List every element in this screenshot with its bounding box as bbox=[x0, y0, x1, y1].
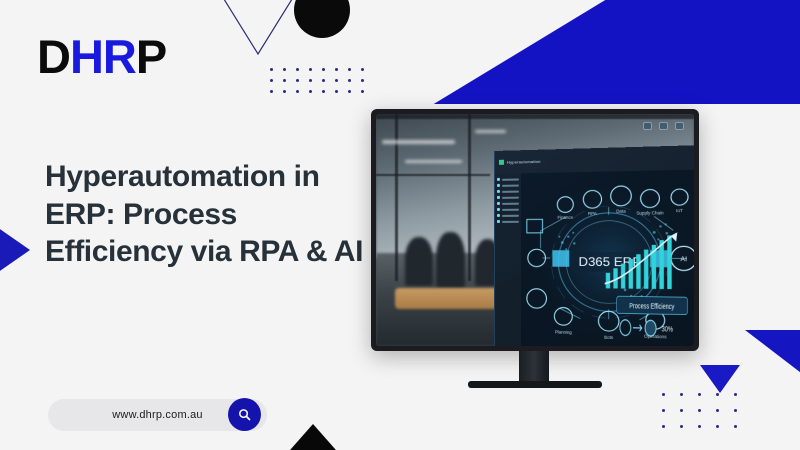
efficiency-chart: Process Efficiency 30% bbox=[601, 232, 694, 344]
logo-letter-d: D bbox=[37, 30, 70, 83]
chevron-outline-icon bbox=[196, 0, 320, 60]
node-label: Finance bbox=[557, 215, 573, 220]
dashboard-app-logo-icon bbox=[499, 160, 504, 165]
sidebar-item[interactable] bbox=[497, 214, 519, 217]
sidebar-item[interactable] bbox=[497, 178, 519, 181]
minimize-icon[interactable] bbox=[643, 122, 652, 130]
dashboard-app-title: Hyperautomation bbox=[507, 159, 541, 165]
blue-wedge-right-shape bbox=[745, 330, 800, 376]
banner-canvas: DHRP Hyperautomation in ERP: Process Eff… bbox=[0, 0, 800, 450]
sidebar-item[interactable] bbox=[497, 190, 519, 193]
sidebar-item[interactable] bbox=[497, 220, 519, 223]
window-controls[interactable] bbox=[643, 122, 684, 130]
dashboard-sidebar[interactable] bbox=[495, 174, 521, 346]
dot-grid-bottom bbox=[662, 393, 752, 441]
sidebar-item[interactable] bbox=[497, 208, 519, 211]
sidebar-item[interactable] bbox=[497, 184, 519, 187]
restore-icon[interactable] bbox=[659, 122, 668, 130]
blue-angled-block-shape bbox=[430, 0, 800, 104]
monitor-device: Hyperautomation bbox=[371, 109, 699, 351]
monitor-screen: Hyperautomation bbox=[376, 114, 694, 346]
monitor-neck bbox=[519, 351, 549, 383]
blue-triangle-left-shape bbox=[0, 218, 30, 282]
process-efficiency-badge: Process Efficiency bbox=[629, 302, 675, 311]
erp-dashboard: Hyperautomation bbox=[494, 145, 694, 346]
sidebar-item[interactable] bbox=[497, 196, 519, 199]
node-label: Supply Chain bbox=[636, 211, 664, 216]
monitor-base bbox=[468, 381, 602, 388]
sidebar-item[interactable] bbox=[497, 202, 519, 205]
node-label: Planning bbox=[554, 330, 572, 336]
node-label: RPA bbox=[588, 211, 597, 216]
logo-letters-hr: HR bbox=[70, 30, 136, 83]
logo-letter-p: P bbox=[136, 30, 166, 83]
dhrp-logo[interactable]: DHRP bbox=[37, 33, 166, 80]
page-title: Hyperautomation in ERP: Process Efficien… bbox=[45, 158, 375, 271]
magnifier-icon bbox=[237, 407, 252, 422]
node-label: IoT bbox=[676, 208, 683, 213]
website-url-text: www.dhrp.com.au bbox=[112, 409, 202, 421]
blue-wedge-mid-shape bbox=[700, 365, 740, 393]
node-label: Data bbox=[616, 209, 626, 214]
close-icon[interactable] bbox=[675, 122, 684, 130]
dot-grid-top bbox=[270, 68, 374, 101]
black-triangle-bottom-shape bbox=[283, 424, 343, 450]
search-icon-button[interactable] bbox=[228, 398, 261, 431]
efficiency-metric-value: 30% bbox=[661, 325, 672, 334]
